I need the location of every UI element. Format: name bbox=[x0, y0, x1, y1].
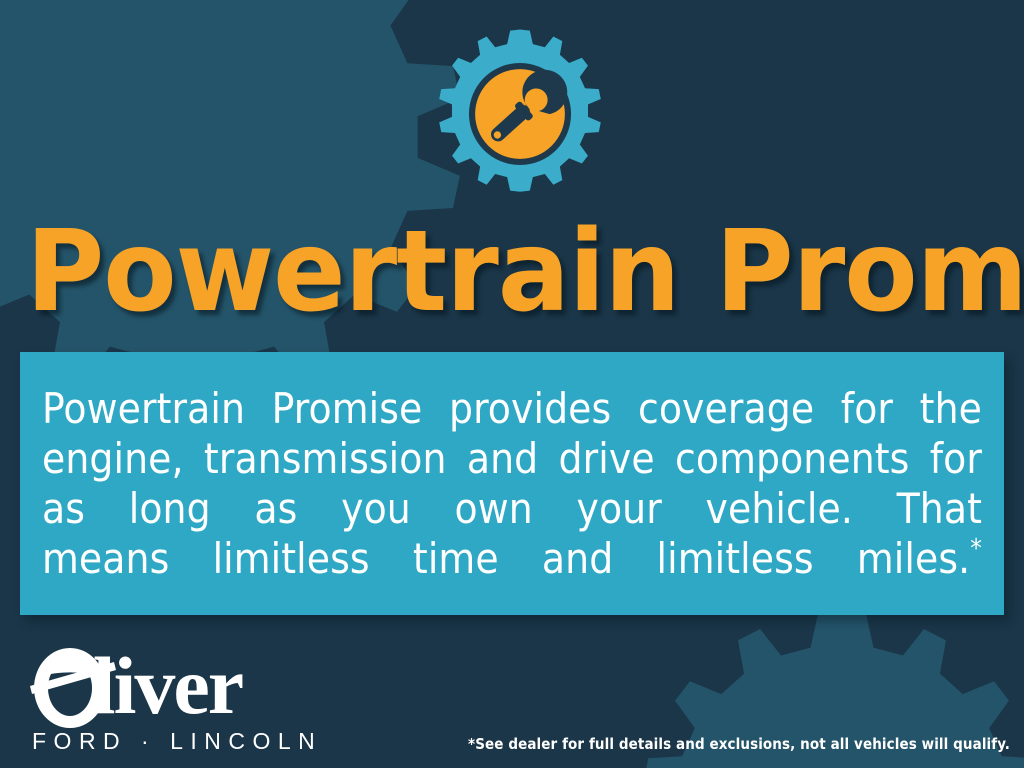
logo-subtitle: FORD · LINCOLN bbox=[32, 728, 328, 754]
oliver-ford-lincoln-logo: Oliver FORD · LINCOLN bbox=[28, 642, 328, 760]
description-last-line: means limitless time and limitless miles… bbox=[42, 534, 982, 583]
footnote-marker: * bbox=[970, 534, 982, 564]
logo-wordmark-rest: liver bbox=[93, 640, 242, 731]
powertrain-promise-poster: Powertrain Promise Powertrain Promise pr… bbox=[0, 0, 1024, 768]
description-panel: Powertrain Promise provides coverage for… bbox=[20, 352, 1004, 615]
description-text: Powertrain Promise provides coverage for… bbox=[42, 384, 982, 634]
gear-wrench-icon bbox=[432, 26, 608, 202]
logo-wordmark: Oliver bbox=[31, 648, 327, 724]
disclaimer-text: *See dealer for full details and exclusi… bbox=[468, 735, 1010, 753]
description-paragraph: Powertrain Promise provides coverage for… bbox=[42, 384, 982, 533]
page-title: Powertrain Promise bbox=[26, 216, 1024, 328]
description-tail-text: means limitless time and limitless miles… bbox=[42, 534, 970, 583]
